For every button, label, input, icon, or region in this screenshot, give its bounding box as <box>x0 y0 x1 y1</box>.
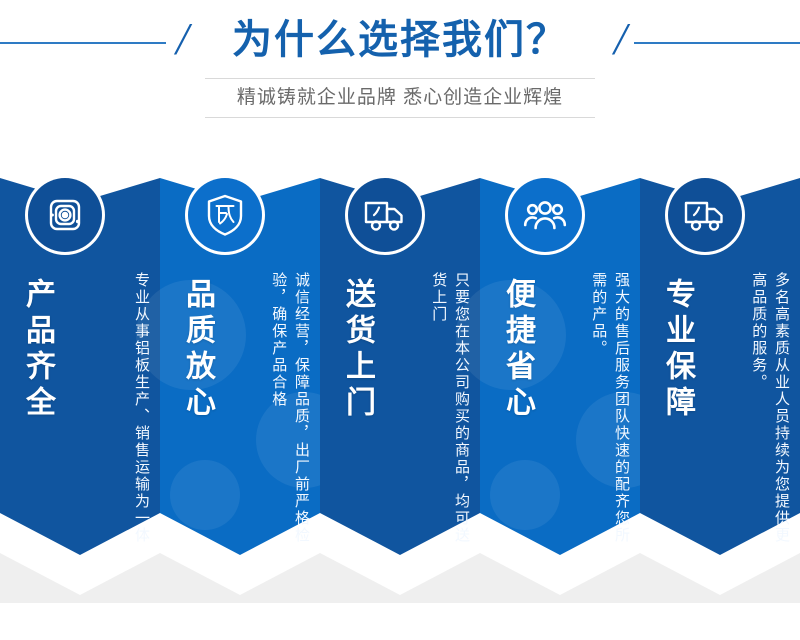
promo-poster: / / 为什么选择我们？ 精诚铸就企业品牌 悉心创造企业辉煌 产品齐全专业从事铝… <box>0 0 800 640</box>
panel-headline: 便捷省心 <box>502 278 532 422</box>
page-title: 为什么选择我们？ <box>0 16 800 64</box>
people-group-icon <box>508 178 582 252</box>
quality-shield-icon <box>188 178 262 252</box>
panel-headline: 产品齐全 <box>22 278 52 422</box>
feature-panel-row: 产品齐全专业从事铝板生产、销售运输为一体品质放心诚信经营，保障品质，出厂前严格检… <box>0 160 800 640</box>
delivery-truck-icon <box>668 178 742 252</box>
panel-headline: 送货上门 <box>342 278 372 422</box>
feature-panel-2[interactable]: 品质放心诚信经营，保障品质，出厂前严格检验，确保产品合格 <box>160 160 320 600</box>
panel-description: 只要您在本公司购买的商品，均可送货上门 <box>392 272 472 547</box>
safe-vault-icon <box>28 178 102 252</box>
page-subtitle: 精诚铸就企业品牌 悉心创造企业辉煌 <box>205 79 595 117</box>
feature-panel-5[interactable]: 专业保障多名高素质从业人员持续为您提供更高品质的服务。 <box>640 160 800 600</box>
panel-description: 专业从事铝板生产、销售运输为一体 <box>72 272 152 544</box>
panel-description: 多名高素质从业人员持续为您提供更高品质的服务。 <box>712 272 792 547</box>
panel-description: 诚信经营，保障品质，出厂前严格检验，确保产品合格 <box>232 272 312 547</box>
panel-headline: 专业保障 <box>662 278 692 422</box>
feature-panel-4[interactable]: 便捷省心强大的售后服务团队快速的配齐您所需的产品。 <box>480 160 640 600</box>
poster-header: / / 为什么选择我们？ 精诚铸就企业品牌 悉心创造企业辉煌 <box>0 0 800 170</box>
subtitle-block: 精诚铸就企业品牌 悉心创造企业辉煌 <box>205 78 595 118</box>
subtitle-rule-bottom <box>205 117 595 118</box>
delivery-truck-icon <box>348 178 422 252</box>
panel-headline: 品质放心 <box>182 278 212 422</box>
feature-panel-1[interactable]: 产品齐全专业从事铝板生产、销售运输为一体 <box>0 160 160 600</box>
panel-description: 强大的售后服务团队快速的配齐您所需的产品。 <box>552 272 632 547</box>
feature-panel-3[interactable]: 送货上门只要您在本公司购买的商品，均可送货上门 <box>320 160 480 600</box>
